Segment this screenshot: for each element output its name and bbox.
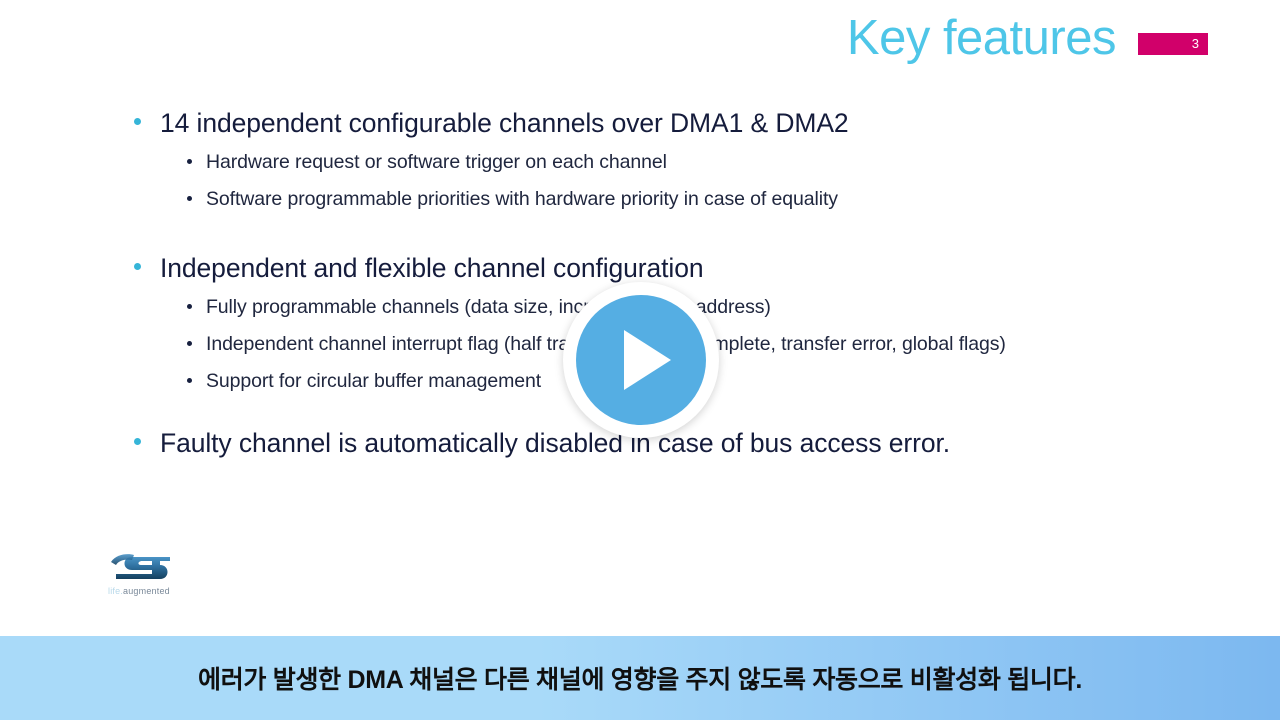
bullet-dot-icon [134,438,141,445]
bullet-text: Independent and flexible channel configu… [160,249,704,288]
slide-header: Key features 3 [847,14,1208,63]
slide-number-value: 3 [1192,37,1199,50]
play-button-circle [576,295,706,425]
bullet-dot-icon [134,263,141,270]
sub-bullet-text: Hardware request or software trigger on … [206,148,667,176]
sub-bullet-dot-icon [187,378,192,383]
sub-bullet-dot-icon [187,304,192,309]
subtitle-text: 에러가 발생한 DMA 채널은 다른 채널에 영향을 주지 않도록 자동으로 비… [198,660,1082,696]
play-triangle-icon [624,330,671,390]
sub-bullet-dot-icon [187,341,192,346]
list-item: Software programmable priorities with ha… [187,185,1174,213]
st-logo-tagline-word: augmented [123,586,170,596]
list-item: Hardware request or software trigger on … [187,148,1174,176]
sub-bullet-text: Support for circular buffer management [206,367,541,395]
st-logo: life.augmented [108,551,188,596]
slide-number-badge: 3 [1138,33,1208,55]
spacer [134,222,1174,249]
st-logo-tagline-prefix: life. [108,586,123,596]
presentation-slide: Key features 3 14 independent configurab… [0,0,1280,636]
page-title: Key features [847,14,1116,63]
bullet-text: Faulty channel is automatically disabled… [160,424,950,463]
bullet-dot-icon [134,118,141,125]
sub-bullet-dot-icon [187,196,192,201]
subtitle-bar: 에러가 발생한 DMA 채널은 다른 채널에 영향을 주지 않도록 자동으로 비… [0,636,1280,720]
list-item: 14 independent configurable channels ove… [134,104,1174,143]
bullet-text: 14 independent configurable channels ove… [160,104,849,143]
st-logo-mark-icon [108,551,180,584]
play-button[interactable] [563,282,719,438]
sub-bullet-dot-icon [187,159,192,164]
sub-list: Hardware request or software trigger on … [187,148,1174,214]
st-logo-tagline: life.augmented [108,586,188,596]
sub-bullet-text: Software programmable priorities with ha… [206,185,838,213]
